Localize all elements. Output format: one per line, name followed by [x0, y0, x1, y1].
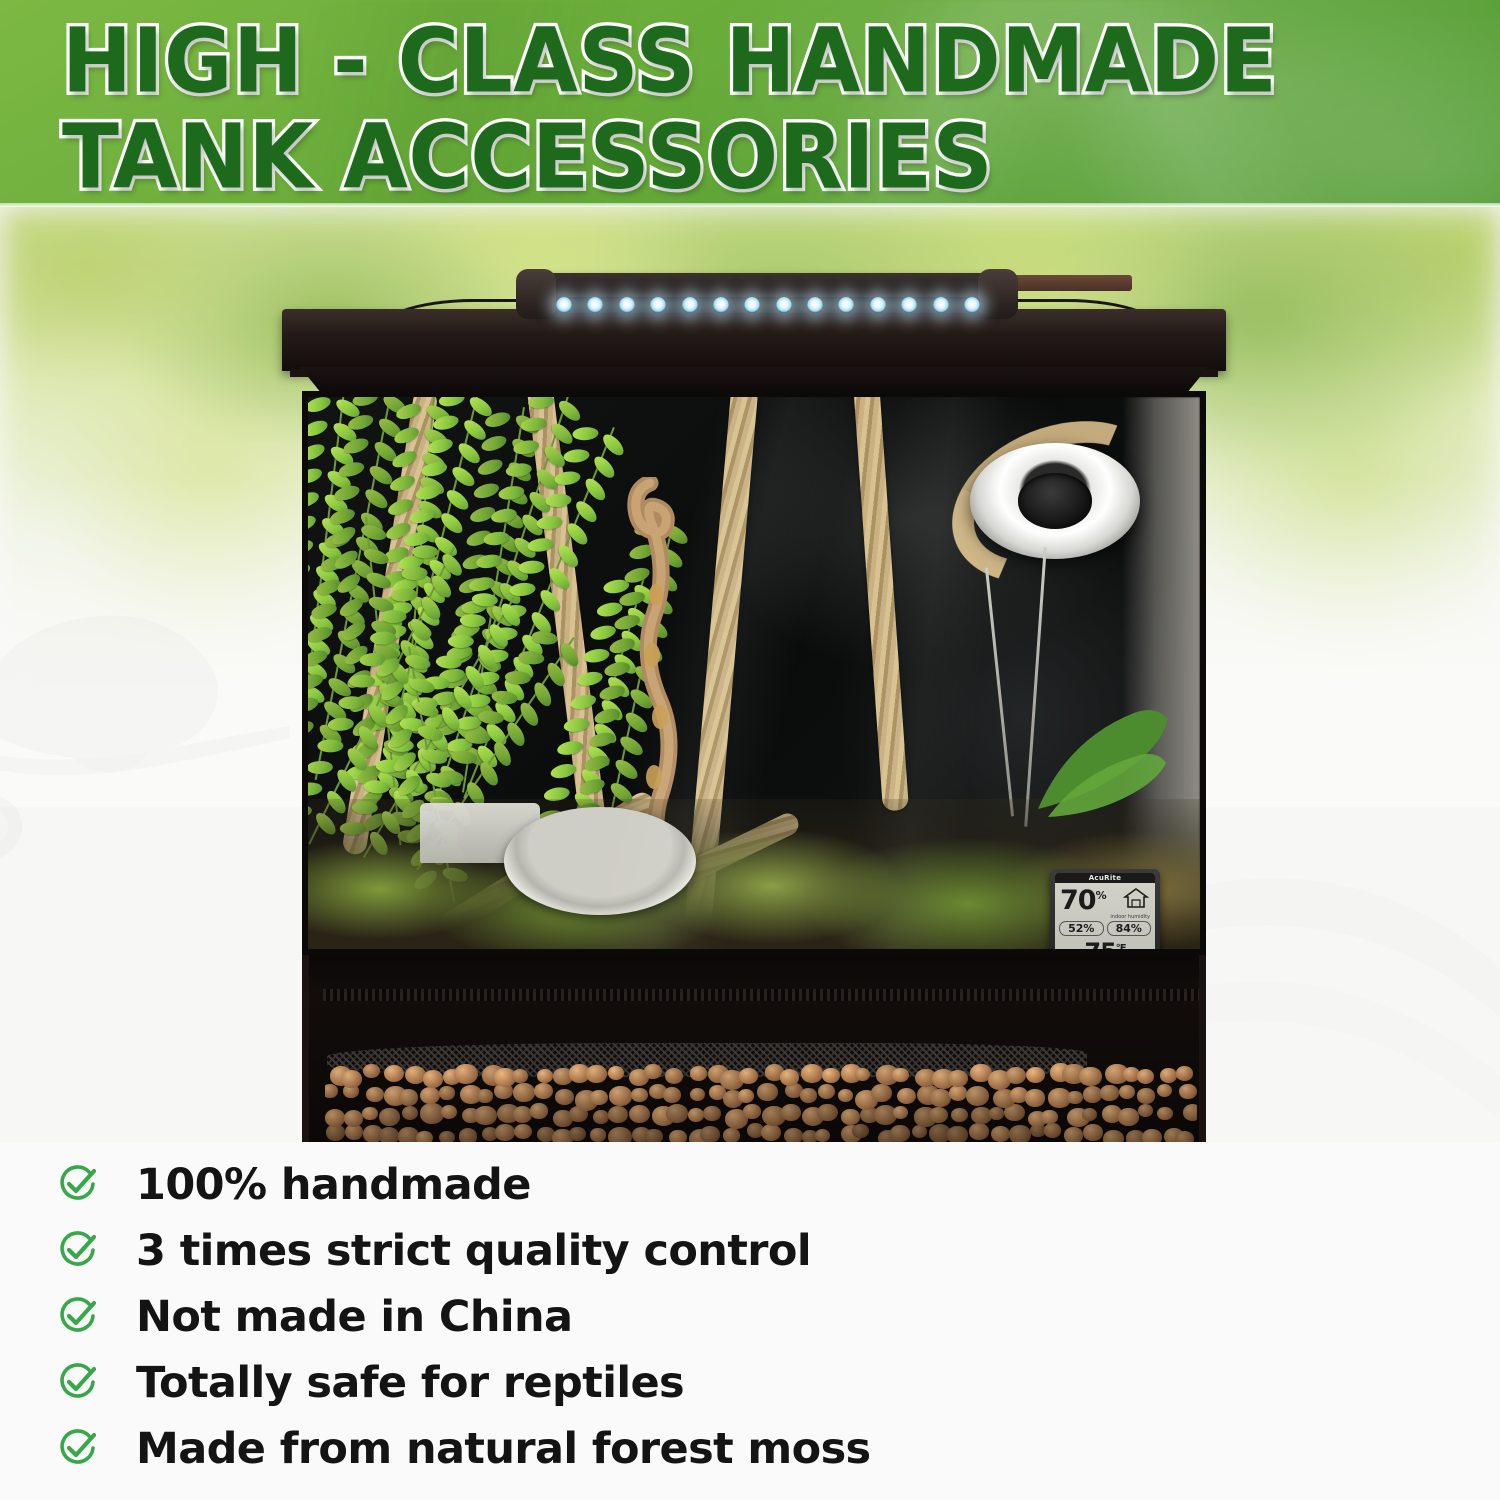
clay-pebble	[569, 1127, 585, 1141]
clay-pebble	[893, 1106, 908, 1119]
glass-reflection	[308, 397, 1200, 949]
drainage-chamber	[302, 955, 1206, 1142]
clay-pebble	[366, 1087, 384, 1102]
clay-pebble	[1082, 1108, 1097, 1121]
clay-pebble	[441, 1105, 458, 1119]
clay-pebble	[1064, 1127, 1083, 1142]
humidity-unit: %	[1096, 889, 1106, 902]
humidity-number: 70	[1060, 885, 1096, 916]
clay-pebble	[948, 1070, 968, 1087]
clay-pebble	[512, 1069, 528, 1083]
list-item: Made from natural forest moss	[56, 1422, 871, 1476]
clay-pebble	[1157, 1084, 1173, 1097]
feature-list: 100% handmade3 times strict quality cont…	[0, 1142, 1500, 1500]
leaf	[302, 609, 306, 630]
clay-pebble-drainage	[325, 1057, 1197, 1142]
check-circle-icon	[56, 1361, 100, 1405]
clay-pebble	[703, 1106, 720, 1121]
led-dot	[870, 297, 886, 313]
clay-pebble	[644, 1064, 662, 1079]
clay-pebble	[608, 1066, 624, 1080]
thermometer-screen: AcuRite 70% indoor humidity 52% 84%	[1055, 873, 1155, 955]
product-photo: AcuRite 70% indoor humidity 52% 84%	[0, 207, 1500, 1142]
clay-pebble	[537, 1069, 553, 1083]
clay-pebble	[757, 1083, 778, 1101]
led-bar-end-cap-left	[516, 269, 556, 319]
clay-pebble	[1138, 1104, 1153, 1117]
glass-enclosure: AcuRite 70% indoor humidity 52% 84%	[302, 391, 1206, 955]
terrarium: AcuRite 70% indoor humidity 52% 84%	[262, 255, 1242, 1142]
clay-pebble	[1160, 1068, 1177, 1083]
clay-pebble	[593, 1110, 609, 1124]
clay-pebble	[969, 1123, 988, 1140]
clay-pebble	[416, 1131, 433, 1143]
thermometer-hygrometer: AcuRite 70% indoor humidity 52% 84%	[1050, 869, 1160, 955]
clay-pebble	[590, 1128, 605, 1141]
clay-pebble	[1006, 1067, 1027, 1085]
clay-pebble	[555, 1089, 574, 1105]
clay-pebble	[534, 1083, 553, 1099]
clay-pebble	[454, 1064, 478, 1084]
clay-pebble	[890, 1125, 909, 1142]
clay-pebble	[666, 1104, 688, 1123]
clay-pebble	[929, 1107, 948, 1123]
clay-pebble	[761, 1124, 781, 1141]
clay-pebble	[629, 1105, 651, 1124]
humidity-low: 52%	[1059, 921, 1104, 936]
led-dot	[744, 297, 760, 313]
clay-pebble	[514, 1124, 532, 1140]
led-dot	[776, 297, 792, 313]
list-item-label: 100% handmade	[136, 1161, 531, 1209]
led-dot	[964, 297, 980, 313]
list-item: 3 times strict quality control	[56, 1224, 811, 1278]
clay-pebble	[363, 1064, 380, 1079]
clay-pebble	[949, 1085, 967, 1101]
clay-pebble	[784, 1128, 803, 1142]
clay-pebble	[818, 1084, 835, 1099]
clay-pebble	[608, 1106, 628, 1123]
clay-pebble	[700, 1126, 720, 1142]
clay-pebble	[841, 1109, 859, 1125]
led-strip	[556, 297, 980, 313]
clay-pebble	[513, 1083, 535, 1102]
clay-pebble	[1103, 1130, 1124, 1142]
clay-pebble	[1157, 1107, 1173, 1120]
clay-pebble	[991, 1126, 1010, 1142]
clay-pebble	[477, 1089, 493, 1103]
clay-pebble	[822, 1068, 839, 1083]
clay-pebble	[817, 1104, 837, 1122]
humidity-range-row: 52% 84%	[1055, 920, 1155, 937]
header-banner: HIGH - CLASS HANDMADE TANK ACCESSORIES	[0, 0, 1500, 207]
clay-pebble	[1083, 1124, 1103, 1141]
clay-pebble	[362, 1107, 377, 1120]
led-dot	[556, 297, 572, 313]
clay-pebble	[384, 1065, 405, 1083]
list-item-label: 3 times strict quality control	[136, 1227, 811, 1275]
clay-pebble	[1025, 1089, 1045, 1106]
clay-pebble	[1142, 1129, 1161, 1142]
clay-pebble	[530, 1103, 548, 1118]
check-circle-icon	[56, 1295, 100, 1339]
clay-pebble	[1179, 1084, 1197, 1099]
clay-pebble	[590, 1090, 608, 1105]
clay-pebble	[586, 1065, 607, 1083]
vent-strip	[323, 989, 1199, 1001]
clay-pebble	[897, 1088, 917, 1105]
clay-pebble	[1041, 1110, 1058, 1124]
clay-pebble	[723, 1128, 740, 1142]
clay-pebble	[1118, 1108, 1138, 1126]
clay-pebble	[1067, 1091, 1082, 1104]
clay-pebble	[402, 1106, 419, 1120]
clay-pebble	[688, 1108, 704, 1122]
clay-pebble	[1044, 1123, 1061, 1137]
list-item: Not made in China	[56, 1290, 572, 1344]
clay-pebble	[1100, 1085, 1118, 1101]
led-dot	[901, 297, 917, 313]
clay-pebble	[1137, 1088, 1155, 1104]
clay-pebble	[1183, 1104, 1197, 1121]
clay-pebble	[663, 1087, 681, 1103]
led-dot	[838, 297, 854, 313]
led-dot	[587, 297, 603, 313]
clay-pebble	[325, 1084, 338, 1098]
clay-pebble	[608, 1127, 632, 1143]
chameleon-watermark	[0, 552, 290, 882]
clay-pebble	[669, 1130, 686, 1142]
clay-pebble	[379, 1127, 400, 1142]
clay-pebble	[738, 1089, 754, 1103]
clay-pebble	[1176, 1066, 1193, 1081]
list-item: Totally safe for reptiles	[56, 1356, 684, 1410]
clay-pebble	[1026, 1067, 1045, 1084]
led-dot	[619, 297, 635, 313]
clay-pebble	[665, 1068, 684, 1084]
clay-pebble	[892, 1068, 908, 1082]
list-item: 100% handmade	[56, 1158, 531, 1212]
clay-pebble	[690, 1088, 705, 1101]
temperature-unit: °F	[1116, 943, 1126, 954]
clay-pebble	[495, 1124, 515, 1141]
clay-pebble	[800, 1088, 817, 1103]
check-circle-icon	[56, 1229, 100, 1273]
temperature-value: 75°F	[1055, 937, 1155, 955]
page-title: HIGH - CLASS HANDMADE TANK ACCESSORIES	[62, 14, 1346, 206]
led-light-bar	[532, 273, 1002, 315]
clay-pebble	[1009, 1125, 1030, 1142]
clay-pebble	[439, 1131, 455, 1142]
led-bar-end-cap-right	[978, 269, 1018, 319]
clay-pebble	[852, 1124, 869, 1138]
clay-pebble	[912, 1125, 928, 1138]
product-infographic: HIGH - CLASS HANDMADE TANK ACCESSORIES	[0, 0, 1500, 1500]
clay-pebble	[420, 1087, 441, 1105]
led-dot	[933, 297, 949, 313]
tank-hood	[282, 309, 1226, 371]
tank-hood-lip	[300, 367, 1208, 395]
clay-pebble	[379, 1108, 400, 1126]
humidity-high: 84%	[1107, 921, 1152, 936]
clay-pebble	[690, 1066, 707, 1081]
clay-pebble	[474, 1106, 496, 1125]
list-item-label: Made from natural forest moss	[136, 1425, 871, 1473]
clay-pebble	[966, 1086, 990, 1106]
led-dot	[713, 297, 729, 313]
list-item-label: Totally safe for reptiles	[136, 1359, 684, 1407]
clay-pebble	[1137, 1069, 1155, 1084]
clay-pebble	[739, 1068, 758, 1084]
clay-pebble	[801, 1064, 823, 1083]
led-dot	[650, 297, 666, 313]
clay-pebble	[989, 1107, 1004, 1120]
clay-pebble	[1079, 1067, 1101, 1086]
clay-pebble	[645, 1129, 662, 1142]
clay-pebble	[439, 1086, 455, 1100]
clay-pebble	[1119, 1085, 1135, 1099]
clay-pebble	[871, 1084, 892, 1102]
clay-pebble	[341, 1070, 362, 1088]
clay-pebble	[1175, 1131, 1194, 1142]
temperature-number: 75	[1084, 938, 1115, 955]
clay-pebble	[815, 1129, 830, 1142]
clay-pebble	[947, 1126, 968, 1142]
house-icon	[1123, 887, 1149, 909]
leaf	[302, 632, 303, 653]
clay-pebble	[781, 1104, 801, 1121]
clay-pebble	[459, 1128, 478, 1142]
clay-pebble	[743, 1104, 760, 1119]
clay-pebble	[609, 1086, 632, 1106]
led-dot	[682, 297, 698, 313]
check-circle-icon	[56, 1163, 100, 1207]
clay-pebble	[423, 1070, 443, 1087]
check-circle-icon	[56, 1427, 100, 1471]
clay-pebble	[855, 1068, 870, 1081]
list-item-label: Not made in China	[136, 1293, 572, 1341]
clay-pebble	[838, 1089, 853, 1102]
thermometer-brand: AcuRite	[1055, 873, 1155, 883]
clay-pebble	[344, 1110, 364, 1127]
clay-pebble	[399, 1089, 418, 1105]
clay-pebble	[325, 1109, 345, 1127]
led-dot	[807, 297, 823, 313]
clay-pebble	[951, 1108, 968, 1123]
clay-pebble	[631, 1088, 648, 1102]
